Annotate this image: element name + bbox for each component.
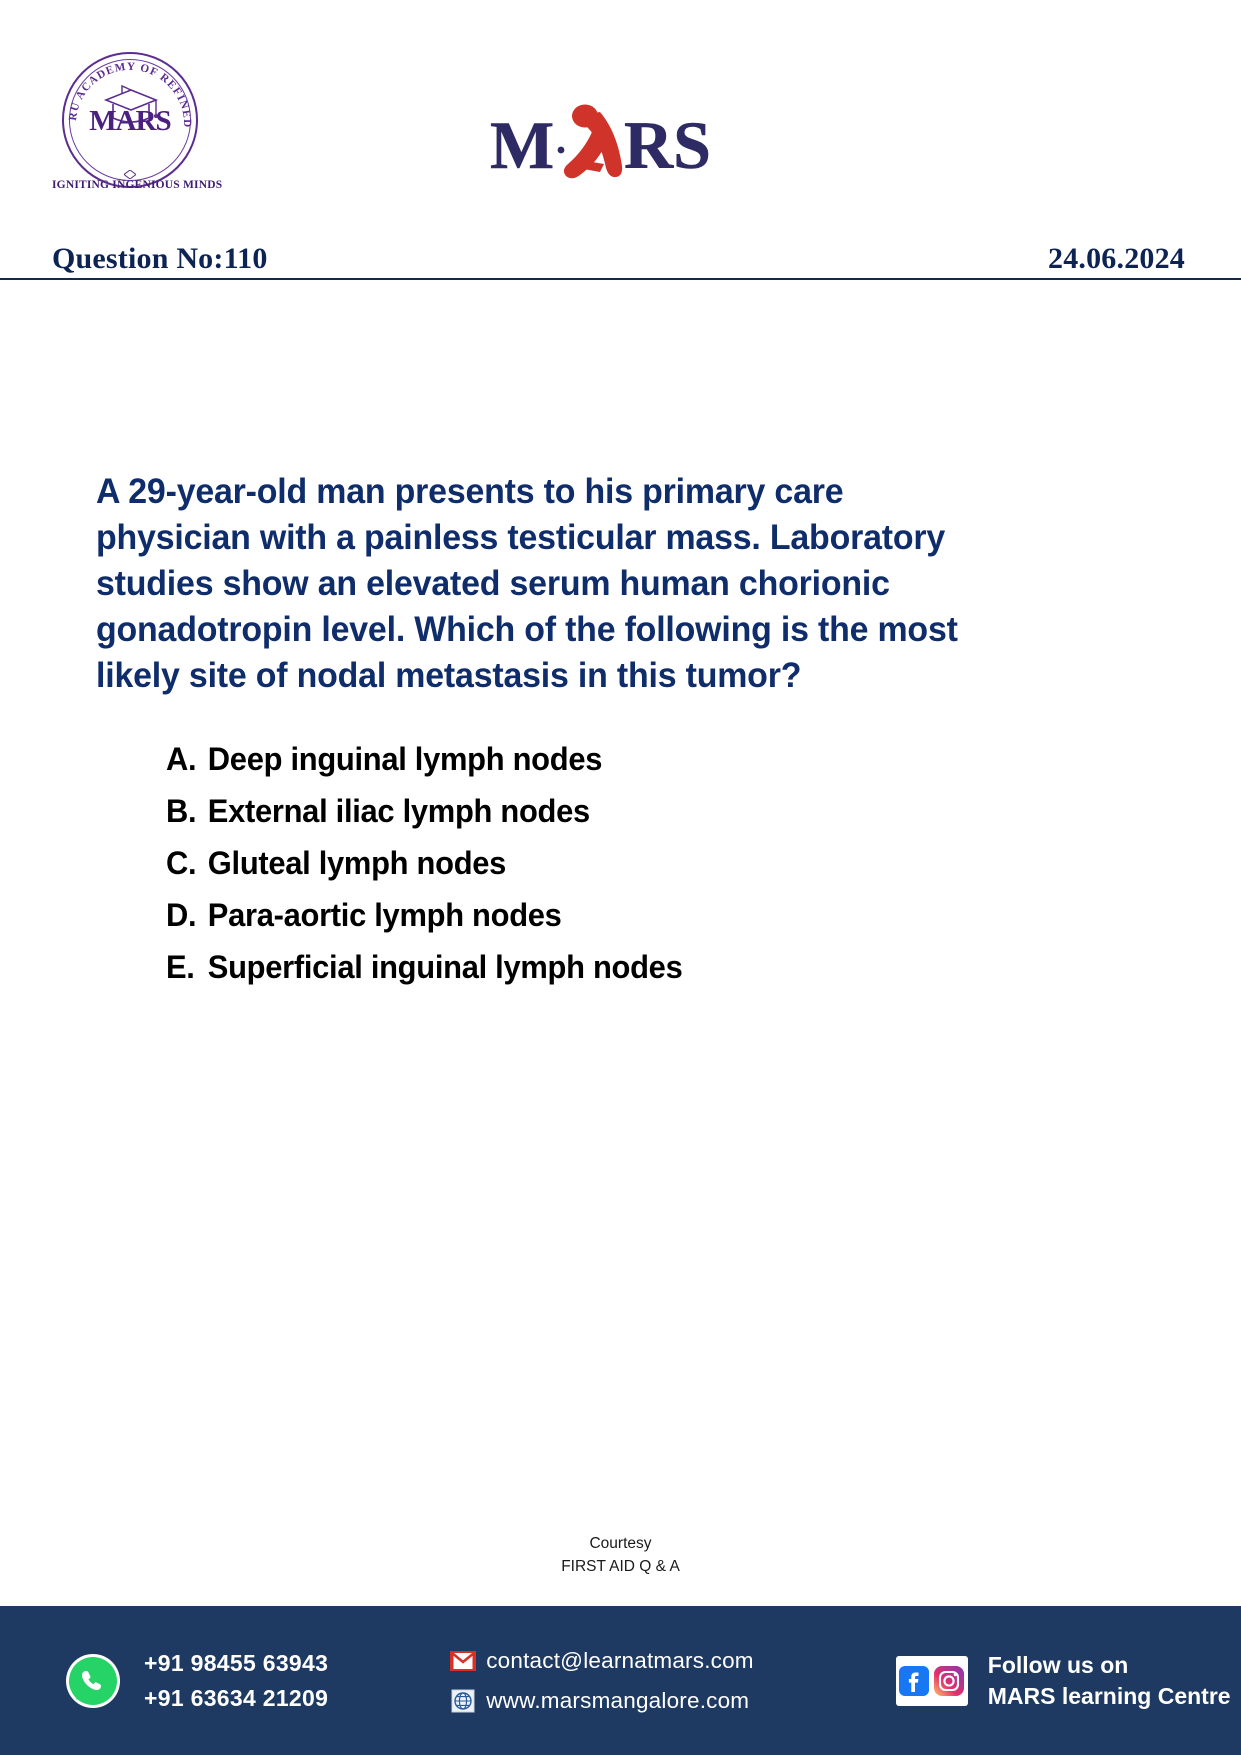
svg-text:RS: RS [624, 107, 711, 183]
option-label: Para-aortic lymph nodes [208, 896, 562, 935]
footer-social-group: Follow us on MARS learning Centre [896, 1650, 1231, 1712]
contact-footer: +91 98455 63943 +91 63634 21209 contact@… [0, 1606, 1241, 1755]
option-letter: B. [166, 792, 208, 831]
question-body: A 29-year-old man presents to his primar… [0, 280, 1241, 1606]
option-label: Superficial inguinal lymph nodes [208, 948, 683, 987]
question-number-label: Question No:110 [52, 244, 268, 274]
website-url: www.marsmangalore.com [486, 1688, 749, 1714]
email-address: contact@learnatmars.com [486, 1648, 754, 1674]
footer-contact-group: contact@learnatmars.com www.marsmangalor… [450, 1648, 754, 1714]
social-icon-badge[interactable] [896, 1656, 968, 1706]
follow-line-2: MARS learning Centre [988, 1681, 1231, 1712]
answer-option-a[interactable]: A. Deep inguinal lymph nodes [166, 740, 1021, 779]
option-letter: C. [166, 844, 208, 883]
website-row[interactable]: www.marsmangalore.com [450, 1688, 754, 1714]
mars-wordmark-logo: M RS [488, 98, 736, 186]
instagram-icon[interactable] [933, 1665, 965, 1697]
seal-diamond-icon [124, 170, 136, 179]
answer-option-e[interactable]: E. Superficial inguinal lymph nodes [166, 948, 1021, 987]
option-letter: E. [166, 948, 208, 987]
option-label: External iliac lymph nodes [208, 792, 590, 831]
logo-band: MANGALURU ACADEMY OF REFINED STUDIES MAR… [0, 0, 1241, 218]
phone-numbers: +91 98455 63943 +91 63634 21209 [144, 1646, 328, 1716]
answer-option-b[interactable]: B. External iliac lymph nodes [166, 792, 1021, 831]
courtesy-title: Courtesy [0, 1532, 1241, 1555]
globe-icon [450, 1689, 476, 1713]
answer-option-c[interactable]: C. Gluteal lymph nodes [166, 844, 1021, 883]
academy-seal-logo: MANGALURU ACADEMY OF REFINED STUDIES MAR… [56, 52, 206, 202]
option-letter: D. [166, 896, 208, 935]
mars-wordmark-icon: M RS [488, 98, 736, 186]
option-label: Gluteal lymph nodes [208, 844, 506, 883]
phone-number-primary: +91 98455 63943 [144, 1646, 328, 1681]
question-stem: A 29-year-old man presents to his primar… [96, 468, 1005, 698]
option-letter: A. [166, 740, 208, 779]
gmail-icon [450, 1649, 476, 1673]
footer-phone-group: +91 98455 63943 +91 63634 21209 [64, 1646, 328, 1716]
facebook-icon[interactable] [898, 1665, 930, 1697]
courtesy-block: Courtesy FIRST AID Q & A [0, 1532, 1241, 1578]
courtesy-source: FIRST AID Q & A [0, 1555, 1241, 1578]
question-header-bar: Question No:110 24.06.2024 [0, 218, 1241, 280]
phone-number-secondary: +91 63634 21209 [144, 1681, 328, 1716]
whatsapp-icon[interactable] [64, 1652, 122, 1710]
seal-tagline: IGNITING INGENIOUS MINDS [52, 179, 210, 191]
email-row[interactable]: contact@learnatmars.com [450, 1648, 754, 1674]
answer-option-d[interactable]: D. Para-aortic lymph nodes [166, 896, 1021, 935]
answer-options-list: A. Deep inguinal lymph nodes B. External… [166, 740, 1066, 1000]
question-page: MANGALURU ACADEMY OF REFINED STUDIES MAR… [0, 0, 1241, 1755]
follow-us-text: Follow us on MARS learning Centre [988, 1650, 1231, 1712]
date-label: 24.06.2024 [1048, 244, 1185, 274]
follow-line-1: Follow us on [988, 1650, 1231, 1681]
seal-center-text: MARS [62, 107, 198, 136]
svg-text:M: M [490, 107, 554, 183]
option-label: Deep inguinal lymph nodes [208, 740, 602, 779]
